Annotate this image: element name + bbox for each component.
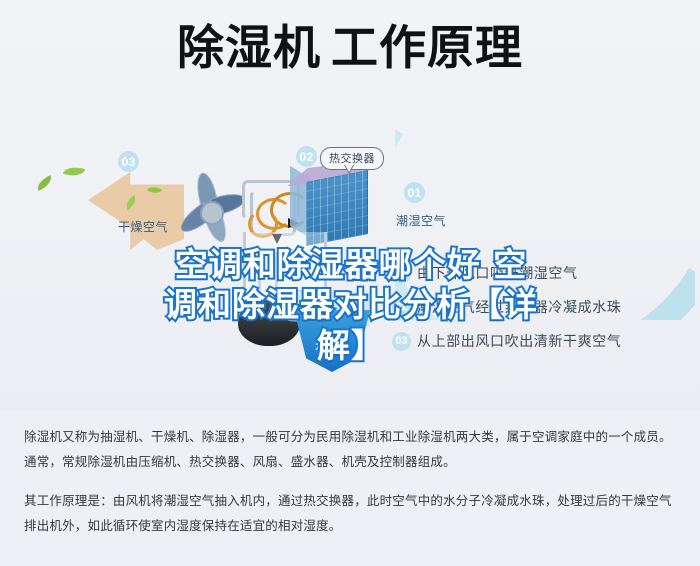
article-body: 除湿机又称为抽湿机、干燥机、除湿器，一般可分为民用除湿机和工业除湿机两大类，属于… [0, 410, 700, 538]
legend-item: 02 潮湿空气经过蒸发器冷凝成水珠 [392, 290, 692, 324]
legend-text-01: 由下部风口吸进潮湿空气 [417, 263, 578, 283]
dry-air-label: 干燥空气 [118, 218, 168, 235]
illustration-title: 除湿机工作原理 [0, 24, 700, 75]
water-tank-label: 水箱 [315, 338, 339, 354]
article-paragraph-1: 除湿机又称为抽湿机、干燥机、除湿器，一般可分为民用除湿机和工业除湿机两大类，属于… [24, 424, 676, 474]
callout-pointer [344, 165, 354, 174]
hero-illustration: 除湿机工作原理 干燥空气 热交换器 水箱 01 02 0 [0, 0, 700, 410]
legend-text-02: 潮湿空气经过蒸发器冷凝成水珠 [417, 297, 621, 317]
step-marker-02: 02 [296, 146, 317, 167]
step-legend: 01 由下部风口吸进潮湿空气 02 潮湿空气经过蒸发器冷凝成水珠 03 从上部出… [392, 256, 692, 358]
fan-graphic [172, 168, 246, 246]
article-paragraph-2: 其工作原理是：由风机将潮湿空气抽入机内，通过热交换器，此时空气中的水分子冷凝成水… [24, 488, 676, 538]
legend-text-03: 从上部出风口吹出清新干爽空气 [417, 331, 621, 351]
step-marker-01: 01 [404, 182, 425, 203]
leaf-icon [35, 175, 55, 191]
compressor-graphic [238, 300, 300, 346]
leaf-icon [63, 163, 85, 180]
fan-hub [200, 201, 224, 225]
illustration-title-main: 除湿机 [177, 21, 321, 76]
legend-badge-01: 01 [392, 264, 411, 283]
illustration-title-sub: 工作原理 [331, 21, 523, 76]
wet-air-label: 潮湿空气 [396, 212, 446, 229]
legend-item: 01 由下部风口吸进潮湿空气 [392, 256, 692, 290]
dry-air-arrow-graphic [88, 172, 184, 250]
legend-badge-03: 03 [392, 332, 411, 351]
step-marker-03: 03 [118, 151, 139, 172]
legend-badge-02: 02 [392, 298, 411, 317]
legend-item: 03 从上部出风口吹出清新干爽空气 [392, 324, 692, 358]
